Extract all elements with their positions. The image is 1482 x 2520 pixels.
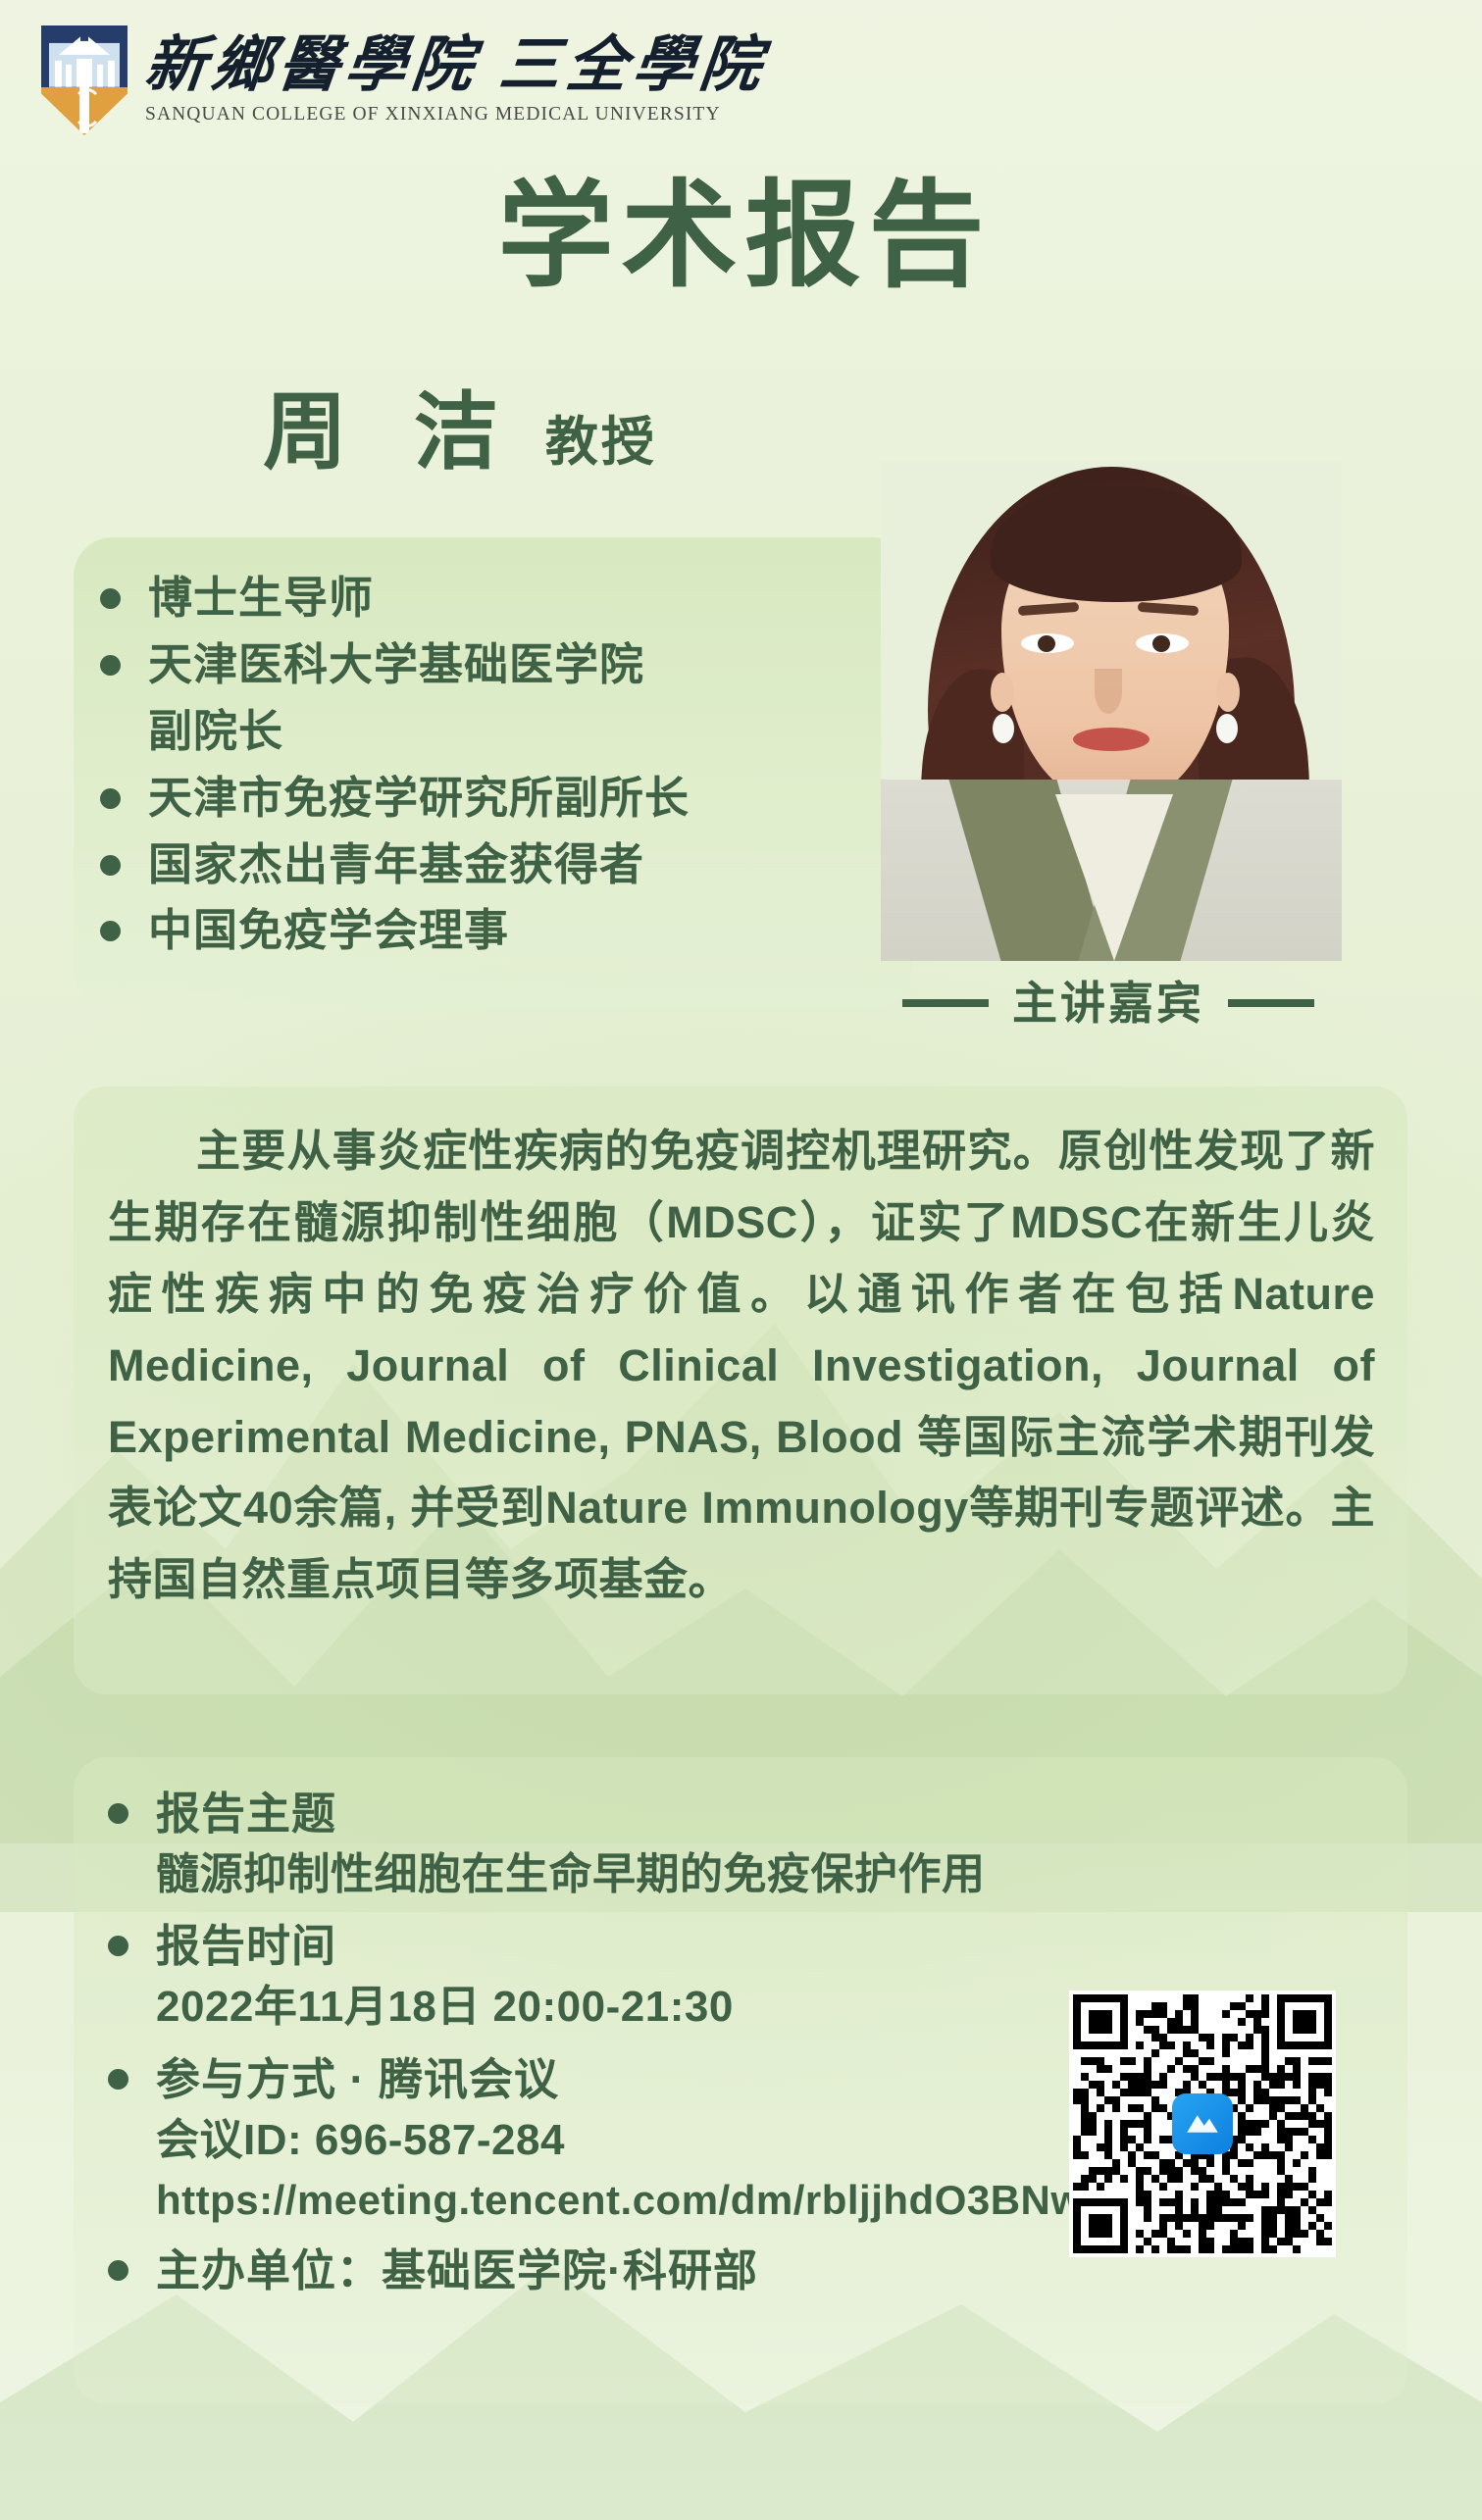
topic-label: 报告主题 (156, 1783, 336, 1844)
credential-text: 天津市免疫学研究所副所长 (148, 767, 690, 830)
join-label: 参与方式 · 腾讯会议 (156, 2048, 559, 2110)
guest-label-row: 主讲嘉宾 (863, 981, 1354, 1026)
time-heading: 报告时间 (108, 1915, 1089, 1977)
guest-label: 主讲嘉宾 (1012, 981, 1204, 1026)
bullet-icon (100, 855, 121, 876)
credential-text: 国家杰出青年基金获得者 (148, 833, 644, 896)
brand-header: 新鄉醫學院 三全學院 SANQUAN COLLEGE OF XINXIANG M… (41, 25, 767, 135)
divider-line-right (1228, 999, 1314, 1007)
tencent-meeting-logo-icon (1172, 2093, 1233, 2154)
poster-title: 学术报告 (0, 178, 1482, 294)
lecture-poster: 新鄉醫學院 三全學院 SANQUAN COLLEGE OF XINXIANG M… (0, 0, 1482, 2520)
divider-line-left (902, 999, 989, 1007)
university-crest-icon (41, 25, 128, 135)
meeting-id: 会议ID: 696-587-284 (156, 2110, 1089, 2171)
list-item: 国家杰出青年基金获得者 (100, 833, 904, 896)
bullet-icon (108, 1936, 128, 1956)
credential-text: 副院长 (148, 700, 283, 763)
speaker-name-row: 周 洁 教授 (263, 390, 657, 475)
credential-text: 天津医科大学基础医学院 (148, 633, 644, 696)
details-list: 报告主题 髓源抑制性细胞在生命早期的免疫保护作用 报告时间 2022年11月18… (108, 1783, 1089, 2311)
bio-paragraph: 主要从事炎症性疾病的免疫调控机理研究。原创性发现了新生期存在髓源抑制性细胞（MD… (108, 1116, 1375, 1616)
speaker-name: 周 洁 (263, 390, 520, 475)
bullet-icon (100, 655, 121, 676)
qr-canvas (1073, 1994, 1332, 2253)
tencent-meeting-qr-code[interactable] (1069, 1991, 1336, 2257)
list-item: 天津医科大学基础医学院 (100, 633, 904, 696)
bullet-icon (108, 2069, 128, 2090)
credentials-list: 博士生导师 天津医科大学基础医学院 副院长 天津市免疫学研究所副所长 国家杰出青… (100, 567, 904, 966)
bullet-icon (108, 2260, 128, 2281)
speaker-academic-title: 教授 (545, 416, 657, 475)
host-label: 主办单位：基础医学院·科研部 (156, 2240, 758, 2301)
university-name-cn: 新鄉醫學院 三全學院 (142, 35, 770, 96)
speaker-portrait (881, 461, 1342, 961)
bullet-icon (108, 1803, 128, 1824)
topic-heading: 报告主题 (108, 1783, 1089, 1844)
list-item: 副院长 (100, 700, 904, 763)
time-label: 报告时间 (156, 1915, 336, 1977)
credential-text: 中国免疫学会理事 (148, 899, 509, 962)
topic-value: 髓源抑制性细胞在生命早期的免疫保护作用 (156, 1844, 1089, 1905)
join-block: 参与方式 · 腾讯会议 会议ID: 696-587-284 https://me… (108, 2048, 1089, 2230)
bullet-icon (100, 788, 121, 809)
list-item: 博士生导师 (100, 567, 904, 630)
join-heading: 参与方式 · 腾讯会议 (108, 2048, 1089, 2110)
host-block: 主办单位：基础医学院·科研部 (108, 2240, 1089, 2301)
list-item: 天津市免疫学研究所副所长 (100, 767, 904, 830)
topic-block: 报告主题 髓源抑制性细胞在生命早期的免疫保护作用 (108, 1783, 1089, 1905)
bullet-icon (100, 921, 121, 941)
time-value: 2022年11月18日 20:00-21:30 (156, 1977, 1089, 2038)
bullet-icon (100, 588, 121, 609)
university-name-en: SANQUAN COLLEGE OF XINXIANG MEDICAL UNIV… (145, 104, 767, 126)
meeting-url[interactable]: https://meeting.tencent.com/dm/rbljjhdO3… (156, 2171, 1089, 2230)
host-heading: 主办单位：基础医学院·科研部 (108, 2240, 1089, 2301)
list-item: 中国免疫学会理事 (100, 899, 904, 962)
time-block: 报告时间 2022年11月18日 20:00-21:30 (108, 1915, 1089, 2038)
credential-text: 博士生导师 (148, 567, 374, 630)
